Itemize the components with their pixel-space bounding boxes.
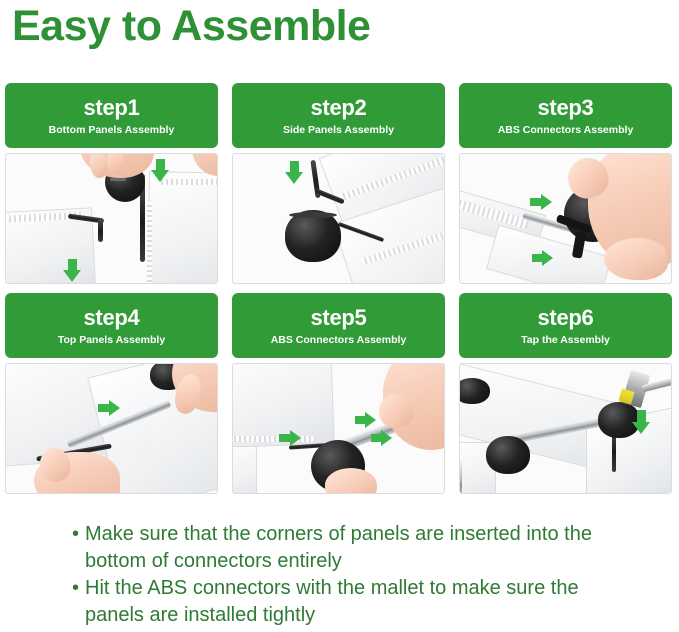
arrow-right-stem: [530, 198, 541, 206]
arrow-down-stem: [637, 410, 646, 422]
arrow-down-icon: [63, 270, 81, 282]
step-subtitle-4: Top Panels Assembly: [58, 332, 165, 348]
arrow-right-icon: [365, 412, 376, 428]
step-header-3: step3 ABS Connectors Assembly: [459, 83, 672, 148]
step-subtitle-2: Side Panels Assembly: [283, 122, 394, 138]
arrow-right-icon: [381, 430, 392, 446]
step-number-1: step1: [84, 95, 140, 120]
arrow-down-stem: [156, 159, 165, 170]
step-header-5: step5 ABS Connectors Assembly: [232, 293, 445, 358]
step-photo-1: [5, 153, 218, 284]
step-card-4: step4 Top Panels Assembly: [5, 293, 218, 494]
arrow-right-stem: [355, 416, 365, 424]
step-header-4: step4 Top Panels Assembly: [5, 293, 218, 358]
arrow-right-icon: [542, 250, 553, 266]
arrow-down-icon: [285, 172, 303, 184]
bullet-icon: •: [72, 575, 85, 602]
step-card-1: step1 Bottom Panels Assembly: [5, 83, 218, 284]
step-header-6: step6 Tap the Assembly: [459, 293, 672, 358]
step-subtitle-1: Bottom Panels Assembly: [49, 122, 175, 138]
step-card-5: step5 ABS Connectors Assembly: [232, 293, 445, 494]
arrow-right-stem: [371, 434, 381, 442]
step-number-6: step6: [538, 305, 594, 330]
step-photo-4: [5, 363, 218, 494]
note-text-1: Make sure that the corners of panels are…: [85, 521, 632, 575]
step-photo-2: [232, 153, 445, 284]
arrow-right-icon: [290, 430, 301, 446]
note-item-1: • Make sure that the corners of panels a…: [72, 521, 632, 575]
note-item-2: • Hit the ABS connectors with the mallet…: [72, 575, 632, 629]
step-number-5: step5: [311, 305, 367, 330]
note-text-2: Hit the ABS connectors with the mallet t…: [85, 575, 632, 629]
step-card-3: step3 ABS Connectors Assembly: [459, 83, 672, 284]
step-card-2: step2 Side Panels Assembly: [232, 83, 445, 284]
bullet-icon: •: [72, 521, 85, 548]
arrow-down-icon: [632, 422, 650, 434]
steps-grid: step1 Bottom Panels Assembly: [5, 83, 675, 503]
arrow-down-stem: [290, 161, 299, 172]
step-header-1: step1 Bottom Panels Assembly: [5, 83, 218, 148]
step-photo-3: [459, 153, 672, 284]
notes-list: • Make sure that the corners of panels a…: [72, 521, 632, 629]
arrow-down-icon: [151, 170, 169, 182]
arrow-right-stem: [279, 434, 290, 442]
arrow-right-icon: [109, 400, 120, 416]
arrow-right-icon: [541, 194, 552, 210]
step-photo-6: [459, 363, 672, 494]
step-header-2: step2 Side Panels Assembly: [232, 83, 445, 148]
step-photo-5: [232, 363, 445, 494]
steps-row-1: step1 Bottom Panels Assembly: [5, 83, 675, 284]
step-number-4: step4: [84, 305, 140, 330]
step-number-2: step2: [311, 95, 367, 120]
arrow-right-stem: [532, 254, 542, 262]
step-card-6: step6 Tap the Assembly: [459, 293, 672, 494]
arrow-right-stem: [98, 404, 109, 412]
step-subtitle-6: Tap the Assembly: [521, 332, 610, 348]
step-number-3: step3: [538, 95, 594, 120]
infographic-page: Easy to Assemble step1 Bottom Panels Ass…: [0, 0, 679, 632]
arrow-down-stem: [68, 259, 77, 270]
page-title: Easy to Assemble: [12, 0, 370, 54]
steps-row-2: step4 Top Panels Assembly: [5, 293, 675, 494]
step-subtitle-5: ABS Connectors Assembly: [271, 332, 407, 348]
step-subtitle-3: ABS Connectors Assembly: [498, 122, 634, 138]
